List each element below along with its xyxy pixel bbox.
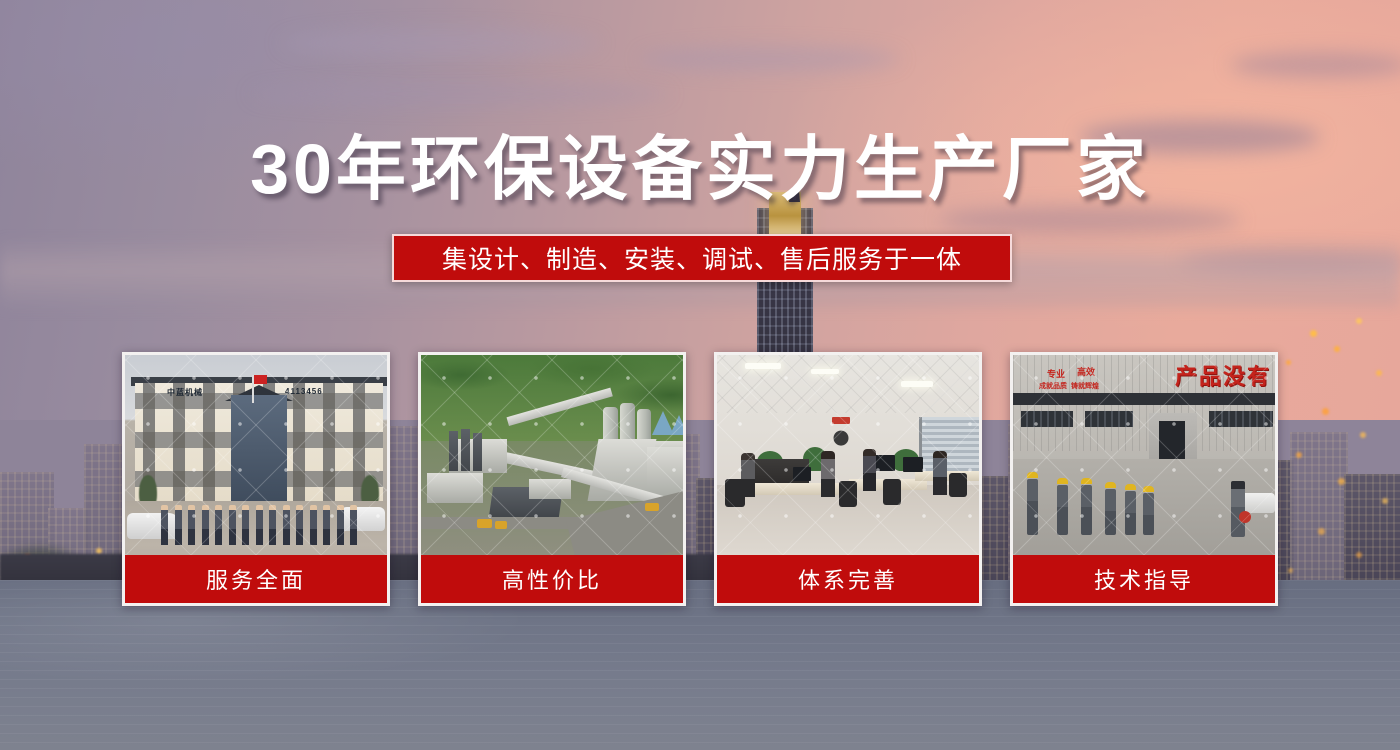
feature-card-system[interactable]: 体系完善 — [714, 352, 982, 606]
building-phone-text: 4113456 — [285, 387, 323, 396]
feature-card-value[interactable]: 高性价比 — [418, 352, 686, 606]
factory-banner-text: 产品没有 — [1175, 359, 1271, 391]
photo-office-interior — [717, 355, 979, 555]
page-title: 30年环保设备实力生产厂家 — [0, 134, 1400, 204]
card-label: 体系完善 — [717, 555, 979, 603]
factory-slogan-3: 成就品质 — [1039, 381, 1067, 391]
feature-card-list: 中蓝机械 4113456 服务全面 — [122, 352, 1278, 606]
factory-slogan-2: 高效 — [1077, 365, 1095, 378]
hero-banner: 30年环保设备实力生产厂家 集设计、制造、安装、调试、售后服务于一体 中蓝机械 … — [0, 0, 1400, 750]
wall-decal-icon — [823, 417, 859, 451]
red-helmet-icon — [1239, 511, 1251, 523]
photo-technical-guidance: 产品没有 专业 高效 成就品质 铸就辉煌 — [1013, 355, 1275, 555]
cloud — [640, 46, 900, 72]
photo-industrial-plant — [421, 355, 683, 555]
feature-card-service[interactable]: 中蓝机械 4113456 服务全面 — [122, 352, 390, 606]
feature-card-guidance[interactable]: 产品没有 专业 高效 成就品质 铸就辉煌 — [1010, 352, 1278, 606]
cloud — [1230, 52, 1400, 78]
card-label: 高性价比 — [421, 555, 683, 603]
cloud — [280, 28, 600, 58]
factory-slogan-4: 铸就辉煌 — [1071, 381, 1099, 391]
card-label: 服务全面 — [125, 555, 387, 603]
building-sign-text: 中蓝机械 — [167, 387, 203, 398]
card-label: 技术指导 — [1013, 555, 1275, 603]
factory-slogan-1: 专业 — [1047, 367, 1065, 380]
photo-company-building: 中蓝机械 4113456 — [125, 355, 387, 555]
subtitle-banner: 集设计、制造、安装、调试、售后服务于一体 — [392, 234, 1012, 282]
cloud — [250, 82, 670, 106]
